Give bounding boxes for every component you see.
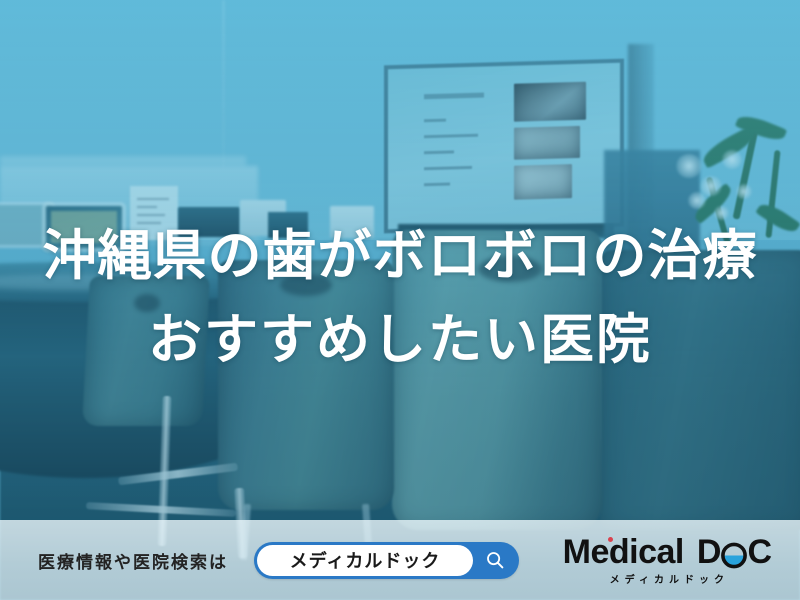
logo-accent-o-icon <box>721 542 747 569</box>
search-input[interactable]: メディカルドック <box>257 545 473 576</box>
brand-logo-word-medical: Medical <box>563 535 684 569</box>
search-widget[interactable]: メディカルドック <box>254 542 519 579</box>
hero-banner: 沖縄県の歯がボロボロの治療 おすすめしたい医院 医療情報や医院検索は メディカル… <box>0 0 800 600</box>
brand-logo-word-c: C <box>747 535 772 569</box>
brand-logo-subtext: メディカルドック <box>606 576 729 586</box>
brand-logo-wordmark: Medical D C <box>563 535 772 569</box>
bottom-bar-lead-text: 医療情報や医院検索は <box>38 548 228 573</box>
page-title: 沖縄県の歯がボロボロの治療 おすすめしたい医院 <box>0 214 800 382</box>
brand-logo-word-d: D <box>697 535 722 569</box>
headline-line-2: おすすめしたい医院 <box>0 298 800 382</box>
search-icon[interactable] <box>485 550 505 570</box>
bottom-bar: 医療情報や医院検索は メディカルドック Medical D <box>0 520 800 600</box>
logo-accent-dot <box>608 537 613 542</box>
headline-line-1: 沖縄県の歯がボロボロの治療 <box>0 214 800 298</box>
brand-logo[interactable]: Medical D C メディカルドック <box>563 535 772 586</box>
